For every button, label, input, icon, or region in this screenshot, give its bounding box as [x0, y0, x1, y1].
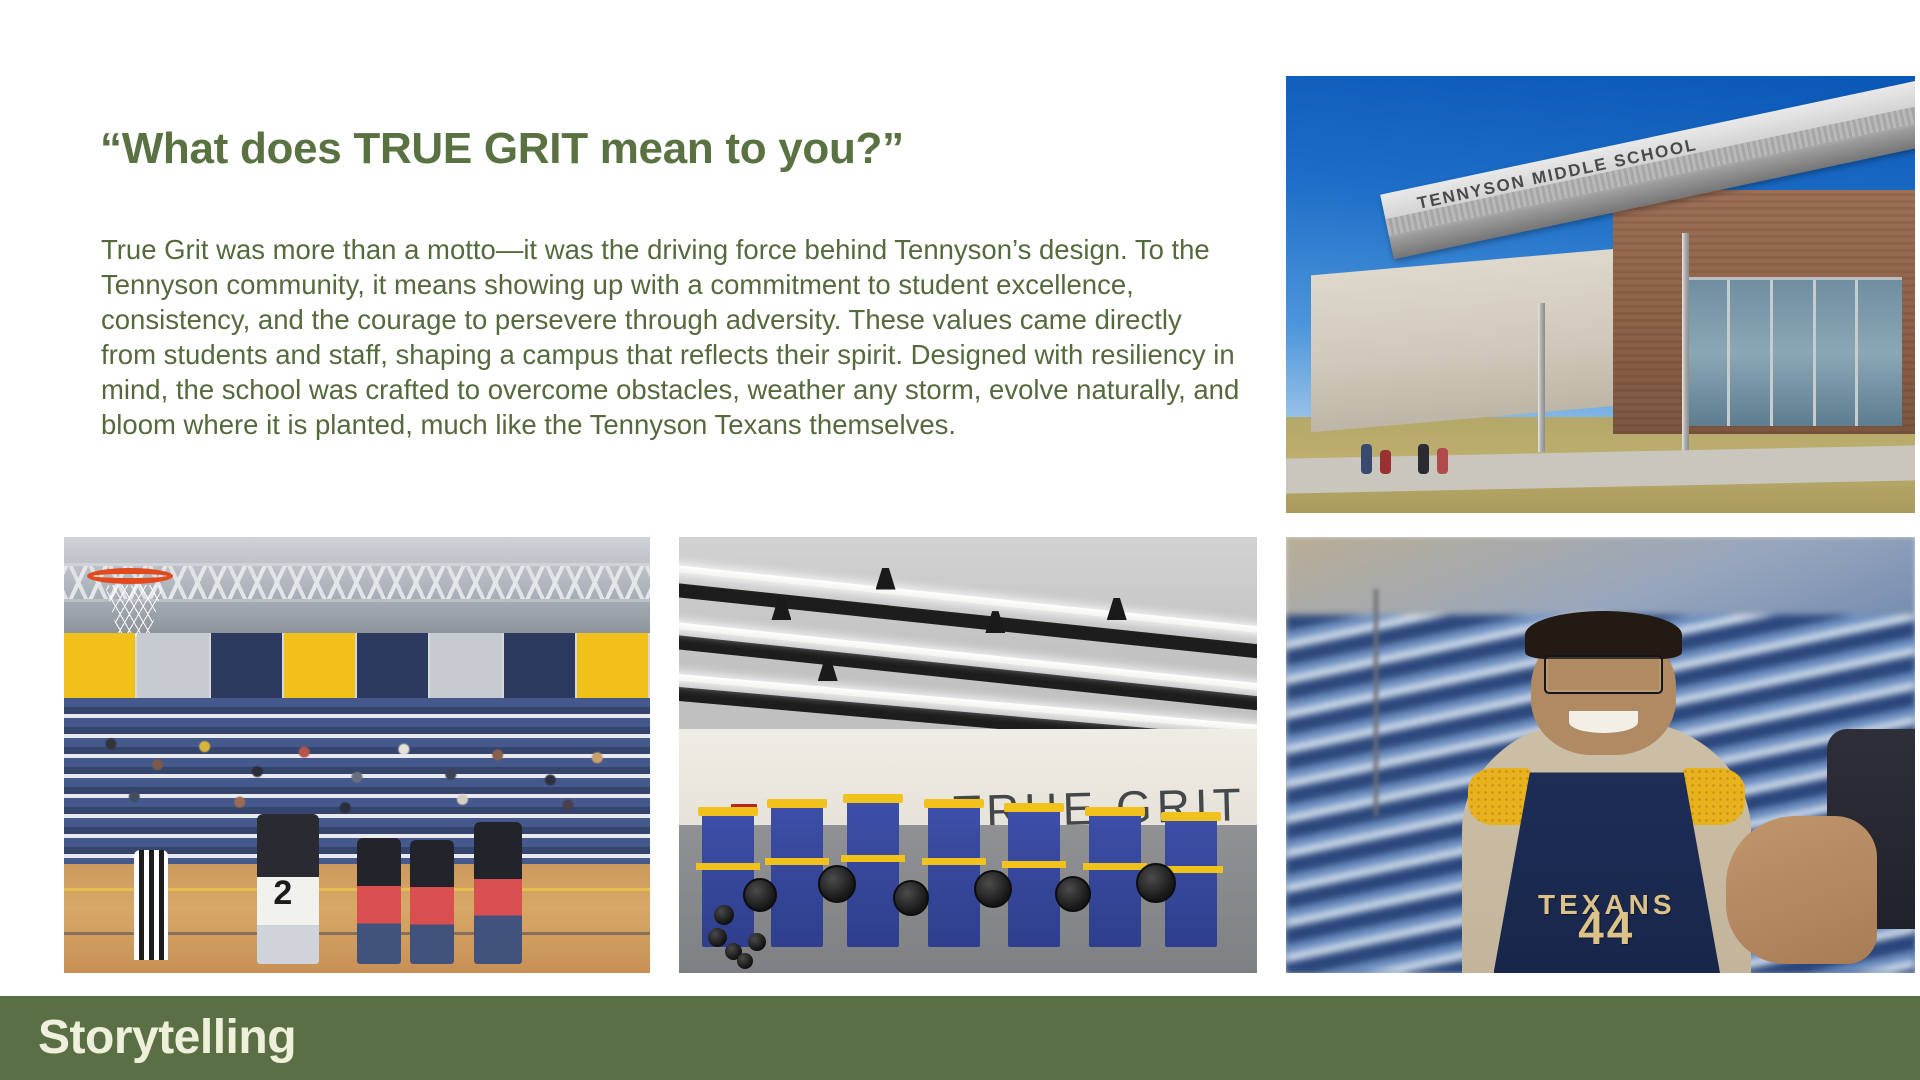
wall-pad	[211, 633, 282, 698]
student-player	[410, 840, 454, 964]
mullion	[1727, 280, 1730, 426]
pedestrian	[1437, 448, 1448, 474]
wall-pad	[504, 633, 575, 698]
basketball-gym-photo: 2	[64, 537, 650, 973]
weight-room-photo: TRUE GRIT	[679, 537, 1257, 973]
jersey-number: 44	[1494, 901, 1720, 955]
wall-pad	[64, 633, 135, 698]
wall-padding-row	[64, 633, 650, 698]
weight-plate	[1136, 863, 1176, 903]
wall-pad	[357, 633, 428, 698]
mullion	[1770, 280, 1773, 426]
stone-wall	[1311, 244, 1663, 432]
squat-rack	[1008, 803, 1060, 947]
texans-jersey: TEXANS 44	[1494, 772, 1720, 973]
jersey-shoulder	[1682, 768, 1745, 825]
mullion	[1855, 280, 1858, 426]
wall-pad	[137, 633, 208, 698]
jersey-shoulder	[1468, 768, 1531, 825]
mullion	[1813, 280, 1816, 426]
squat-rack	[1089, 807, 1141, 947]
weight-plate	[818, 865, 856, 903]
jersey-number: 2	[273, 876, 292, 910]
body-paragraph: True Grit was more than a motto—it was t…	[101, 232, 1241, 442]
student-portrait-photo: TEXANS 44	[1286, 537, 1915, 973]
dumbbell	[737, 953, 753, 969]
student-hair	[1525, 611, 1682, 659]
eyeglasses-icon	[1544, 655, 1664, 694]
school-exterior-photo: TENNYSON MIDDLE SCHOOL	[1286, 76, 1915, 513]
pedestrian	[1361, 444, 1372, 474]
squat-rack	[771, 799, 823, 947]
dumbbell	[714, 905, 734, 925]
student-player	[474, 822, 522, 964]
entry-glass	[1689, 277, 1903, 426]
weight-plate	[893, 880, 929, 916]
pedestrian	[1380, 450, 1391, 474]
basketball-hoop-icon	[87, 568, 173, 584]
page-title: “What does TRUE GRIT mean to you?”	[100, 125, 1250, 173]
wall-pad	[577, 633, 648, 698]
slide-canvas: “What does TRUE GRIT mean to you?” True …	[0, 0, 1920, 1080]
squat-rack	[847, 794, 899, 947]
canopy-column	[1682, 233, 1689, 460]
weight-plate	[974, 870, 1012, 908]
referee	[134, 850, 168, 960]
foreground-hand	[1726, 816, 1877, 964]
student-player: 2	[257, 814, 319, 964]
wall-pad	[430, 633, 501, 698]
student-player	[357, 838, 401, 964]
canopy-column	[1538, 303, 1545, 452]
dumbbell	[708, 928, 727, 947]
wall-pad	[284, 633, 355, 698]
squat-rack	[702, 807, 754, 947]
weight-plate	[1055, 876, 1091, 912]
footer-section-title: Storytelling	[38, 1014, 296, 1062]
weight-plate	[743, 878, 777, 912]
student-crowd	[64, 716, 650, 856]
pedestrian	[1418, 444, 1429, 474]
footer-bar: Storytelling	[0, 996, 1920, 1080]
bleacher-railing	[1374, 589, 1378, 816]
squat-rack	[928, 799, 980, 947]
